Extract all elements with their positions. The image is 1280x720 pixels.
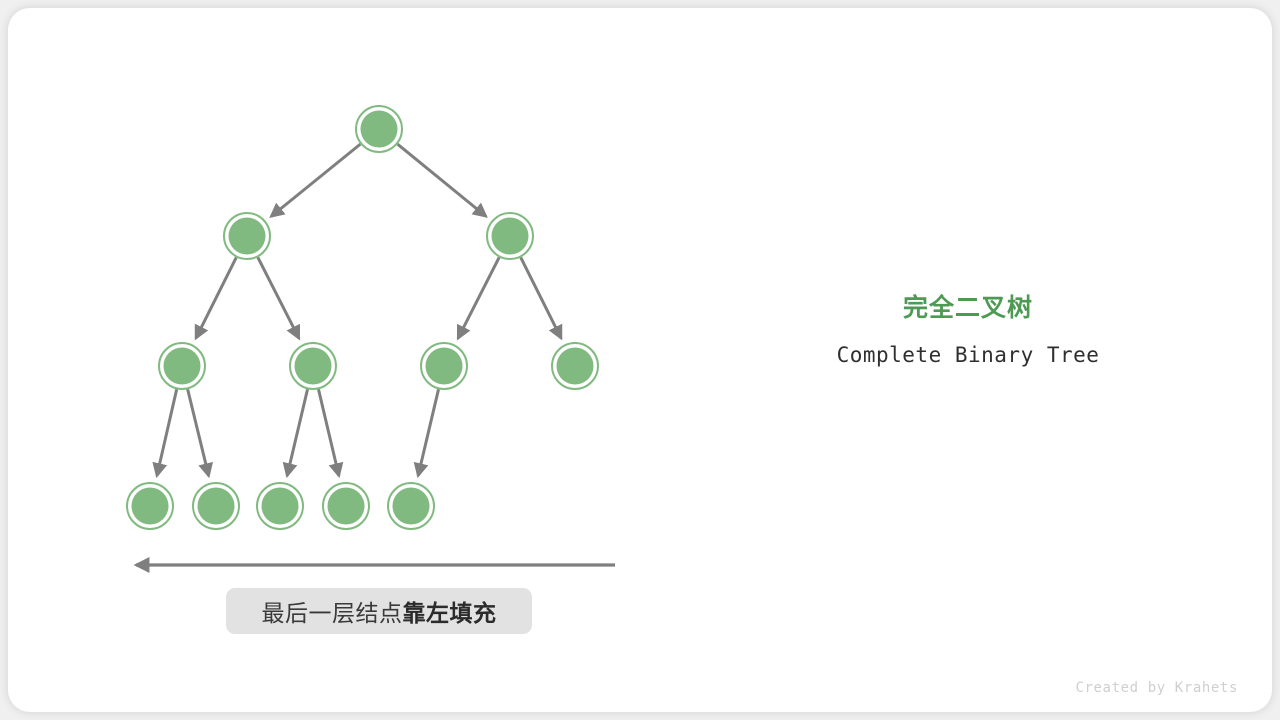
tree-node-core (361, 111, 398, 148)
tree-node (290, 343, 336, 389)
tree-edge (521, 257, 561, 338)
tree-node-core (295, 348, 332, 385)
tree-node-core (393, 488, 430, 525)
tree-edge (458, 257, 499, 338)
screenshot-stage: 完全二叉树 Complete Binary Tree 最后一层结点靠左填充 Cr… (0, 0, 1280, 720)
tree-edge (398, 144, 486, 216)
tree-node-core (164, 348, 201, 385)
tree-edge (319, 389, 339, 475)
tree-edge (418, 389, 438, 475)
tree-edge (188, 389, 209, 476)
tree-nodes (127, 106, 598, 529)
tree-node (257, 483, 303, 529)
tree-node-core (328, 488, 365, 525)
tree-node (356, 106, 402, 152)
annotation-label-text: 最后一层结点靠左填充 (262, 594, 497, 628)
legend-title: 完全二叉树 (768, 292, 1168, 326)
tree-edge (271, 144, 360, 216)
tree-node (127, 483, 173, 529)
tree-node-core (262, 488, 299, 525)
tree-node-core (426, 348, 463, 385)
tree-edges (157, 144, 561, 476)
annotation-label-plain: 最后一层结点 (262, 600, 403, 626)
tree-node (388, 483, 434, 529)
legend: 完全二叉树 Complete Binary Tree (768, 292, 1168, 367)
tree-node-core (492, 218, 529, 255)
credit-text: Created by Krahets (1075, 680, 1238, 696)
tree-node (159, 343, 205, 389)
tree-node-core (132, 488, 169, 525)
tree-edge (157, 389, 177, 475)
tree-node (421, 343, 467, 389)
tree-edge (196, 257, 236, 338)
legend-subtitle: Complete Binary Tree (768, 343, 1168, 367)
tree-node (487, 213, 533, 259)
tree-edge (287, 389, 307, 475)
annotation-label-bold: 靠左填充 (403, 600, 497, 626)
tree-node-core (229, 218, 266, 255)
tree-node (323, 483, 369, 529)
tree-edge (258, 257, 299, 338)
tree-node (552, 343, 598, 389)
tree-node (193, 483, 239, 529)
annotation-label-box: 最后一层结点靠左填充 (226, 588, 532, 634)
tree-node-core (198, 488, 235, 525)
tree-node (224, 213, 270, 259)
tree-node-core (557, 348, 594, 385)
